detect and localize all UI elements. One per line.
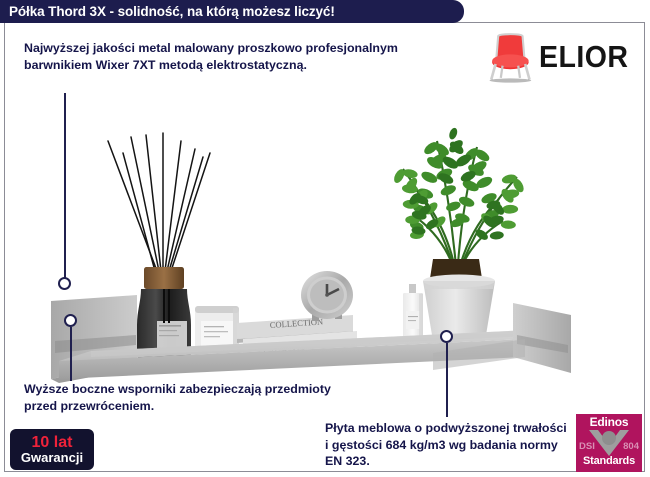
plant-leaves bbox=[384, 127, 535, 247]
perfume-bottle bbox=[403, 284, 423, 343]
edinos-certificate-badge: Edinos DSI 804 Standards bbox=[576, 414, 642, 472]
callout-brackets-text: Wyższe boczne wsporniki zabezpieczają pr… bbox=[24, 381, 354, 414]
banner-title: Półka Thord 3X - solidność, na którą moż… bbox=[0, 4, 335, 19]
callout-dot-brackets bbox=[64, 314, 77, 327]
warranty-badge: 10 lat Gwarancji bbox=[10, 429, 94, 470]
edinos-right-code: 804 bbox=[623, 441, 639, 452]
edinos-left-code: DSI bbox=[579, 441, 595, 452]
edinos-title: Edinos bbox=[576, 415, 642, 429]
warranty-years: 10 lat bbox=[32, 434, 73, 451]
callout-board-text: Płyta meblowa o podwyższonej trwałości i… bbox=[325, 420, 570, 470]
red-chair-icon bbox=[486, 27, 535, 87]
desk-clock bbox=[301, 271, 353, 321]
callout-dot-metal bbox=[58, 277, 71, 290]
header-banner: Półka Thord 3X - solidność, na którą moż… bbox=[0, 0, 464, 23]
warranty-label: Gwarancji bbox=[21, 451, 83, 465]
callout-line-board bbox=[446, 343, 448, 417]
callout-metal-text: Najwyższej jakości metal malowany proszk… bbox=[24, 40, 424, 73]
brand-name: ELIOR bbox=[539, 39, 628, 75]
callout-line-metal bbox=[64, 93, 66, 283]
brand-logo: ELIOR bbox=[486, 26, 636, 88]
callout-line-brackets bbox=[70, 327, 72, 381]
edinos-mark: DSI 804 bbox=[576, 429, 642, 456]
product-infographic: COLLECTION FUNCTION bbox=[0, 0, 650, 477]
callout-dot-board bbox=[440, 330, 453, 343]
